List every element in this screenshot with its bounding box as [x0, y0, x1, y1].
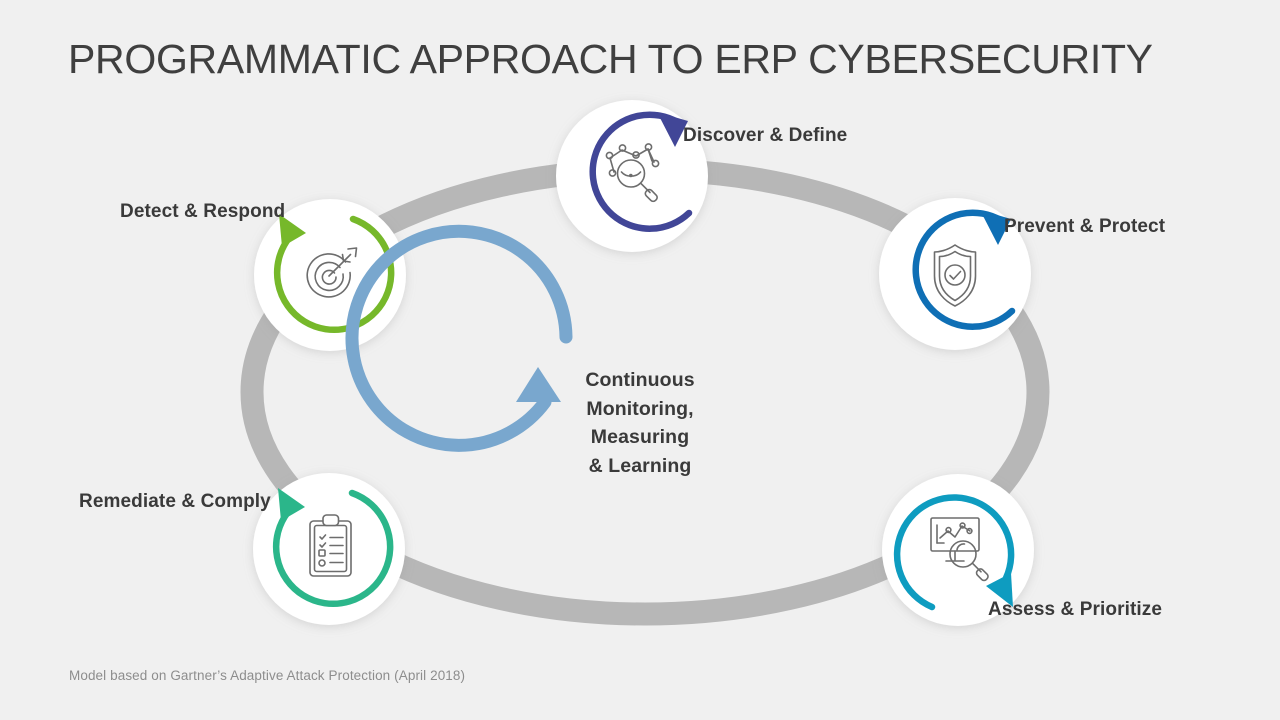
center-line-3: Measuring	[540, 423, 740, 452]
center-label: Continuous Monitoring, Measuring & Learn…	[540, 366, 740, 480]
center-arrow-ring[interactable]	[352, 231, 566, 445]
label-prevent-protect[interactable]: Prevent & Protect	[1004, 216, 1165, 238]
label-discover-define[interactable]: Discover & Define	[683, 125, 847, 147]
source-footnote: Model based on Gartner’s Adaptive Attack…	[69, 668, 465, 683]
center-arc	[352, 231, 566, 445]
center-line-2: Monitoring,	[540, 395, 740, 424]
label-detect-respond[interactable]: Detect & Respond	[120, 201, 285, 223]
center-line-1: Continuous	[540, 366, 740, 395]
label-assess-prioritize[interactable]: Assess & Prioritize	[988, 599, 1162, 621]
center-line-4: & Learning	[540, 452, 740, 481]
slide-canvas: PROGRAMMATIC APPROACH TO ERP CYBERSECURI…	[0, 0, 1280, 720]
label-remediate-comply[interactable]: Remediate & Comply	[79, 491, 271, 513]
